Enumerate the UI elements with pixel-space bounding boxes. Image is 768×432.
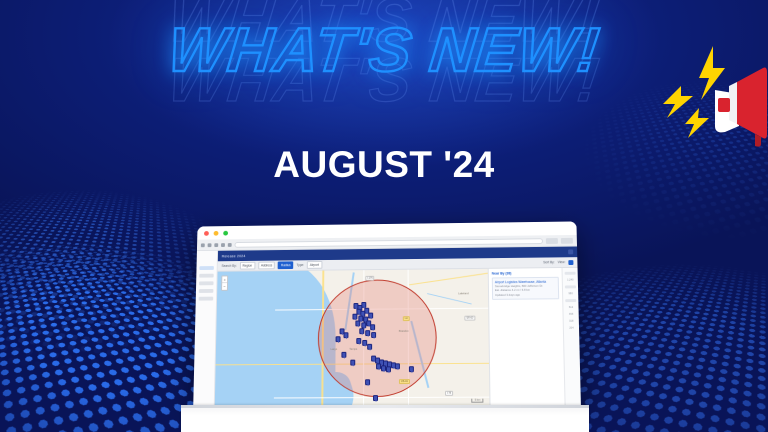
- map-road-shield: I-4: [403, 316, 410, 321]
- map-marker[interactable]: [386, 366, 391, 372]
- rail-value: 318: [569, 320, 573, 323]
- filter-chip-radius[interactable]: Radius: [278, 261, 294, 269]
- map-marker[interactable]: [371, 332, 376, 338]
- map-road-shield: I-275: [365, 276, 374, 281]
- sidebar-item-1[interactable]: [199, 266, 214, 270]
- address-bar[interactable]: [234, 238, 543, 248]
- map-marker[interactable]: [395, 363, 400, 369]
- map-scale-bar: 5 km: [472, 399, 484, 403]
- map-marker[interactable]: [367, 344, 372, 350]
- result-card[interactable]: Airport Logistics Warehouse, Atlanta Sto…: [492, 277, 559, 301]
- map-road-shield: SR-60: [464, 316, 475, 321]
- map-marker[interactable]: [373, 395, 378, 401]
- map-place-label: Tampa: [349, 348, 357, 351]
- view-toggle-icon[interactable]: [568, 260, 573, 265]
- map-marker[interactable]: [409, 366, 414, 372]
- sidebar-item-4[interactable]: [199, 289, 214, 293]
- forward-icon[interactable]: [208, 243, 212, 247]
- megaphone-body: [715, 68, 767, 147]
- rail-item[interactable]: [565, 272, 576, 275]
- laptop-mockup: Release 2024 Search By: Region Address R…: [183, 219, 587, 432]
- laptop-hinge: [181, 405, 589, 408]
- search-by-label: Search By:: [222, 264, 237, 268]
- toolbar-spacer: [325, 262, 540, 264]
- map-marker[interactable]: [356, 338, 361, 344]
- reload-icon[interactable]: [214, 243, 218, 247]
- sidebar-item-2[interactable]: [199, 274, 214, 278]
- map-place-label: Largo: [331, 348, 338, 351]
- type-select[interactable]: Airport: [307, 261, 322, 269]
- back-icon[interactable]: [201, 243, 205, 247]
- map-marker[interactable]: [341, 352, 346, 358]
- sidebar-item-3[interactable]: [199, 281, 214, 285]
- laptop-screen: Release 2024 Search By: Region Address R…: [193, 221, 581, 407]
- view-label: View:: [558, 260, 566, 264]
- map-marker[interactable]: [350, 360, 355, 366]
- map-marker[interactable]: [368, 313, 373, 319]
- megaphone-icon: [655, 38, 767, 150]
- rail-item[interactable]: [565, 285, 576, 288]
- traffic-light-close[interactable]: [204, 231, 209, 236]
- map-zoom-controls: + −: [221, 275, 228, 290]
- map-zoom-out-button[interactable]: −: [222, 283, 227, 290]
- map-marker[interactable]: [359, 328, 364, 334]
- map-road-shield: US-41: [399, 379, 410, 384]
- map-road-shield: I-75: [445, 391, 453, 396]
- rail-value: 1,240: [567, 279, 574, 282]
- app-right-rail: 1,240 980 612 455 318 204: [562, 268, 581, 407]
- app-close-icon[interactable]: [568, 249, 573, 254]
- sidebar-item-5[interactable]: [199, 297, 214, 301]
- map-place-label: Lakeland: [458, 292, 468, 295]
- map-place-label: Brandon: [399, 330, 409, 333]
- map-marker[interactable]: [365, 330, 370, 336]
- app-body: Tampa Largo Brandon Lakeland I-275 I-4 U…: [215, 268, 581, 408]
- rail-item[interactable]: [565, 299, 576, 302]
- map-marker[interactable]: [355, 320, 360, 326]
- application-window: Release 2024 Search By: Region Address R…: [193, 247, 581, 408]
- browser-actions: [546, 237, 573, 243]
- filter-chip-region[interactable]: Region: [239, 262, 255, 270]
- rail-value: 980: [568, 292, 572, 295]
- type-label: Type:: [296, 263, 304, 267]
- map-marker[interactable]: [365, 379, 370, 385]
- filter-chip-address[interactable]: Address: [258, 262, 275, 270]
- page-title: WHAT'S NEW!: [0, 22, 768, 79]
- laptop-base: [181, 405, 589, 432]
- sort-by-label[interactable]: Sort By:: [543, 260, 554, 264]
- traffic-light-minimize[interactable]: [214, 230, 219, 235]
- traffic-light-maximize[interactable]: [223, 230, 228, 235]
- map-canvas[interactable]: Tampa Largo Brandon Lakeland I-275 I-4 U…: [215, 269, 490, 408]
- app-main: Release 2024 Search By: Region Address R…: [215, 247, 581, 408]
- banner-subtitle: AUGUST '24: [0, 144, 768, 186]
- app-window-title: Release 2024: [222, 254, 246, 258]
- banner-title-group: WHAT'S NEW! WHAT'S NEW! WHAT'S NEW!: [0, 22, 768, 79]
- map-marker[interactable]: [352, 314, 357, 320]
- results-title: Near By (38): [492, 271, 559, 276]
- map-marker[interactable]: [370, 324, 375, 330]
- bookmark-icon[interactable]: [228, 243, 232, 247]
- rail-value: 612: [569, 306, 573, 309]
- rail-value: 204: [569, 327, 573, 330]
- rail-value: 455: [569, 313, 573, 316]
- results-panel: Near By (38) Airport Logistics Warehouse…: [488, 268, 565, 407]
- home-icon[interactable]: [221, 243, 225, 247]
- result-updated: Updated 3 days ago: [495, 293, 556, 297]
- profile-icon[interactable]: [561, 237, 573, 243]
- map-marker[interactable]: [343, 332, 348, 338]
- extensions-icon[interactable]: [546, 238, 558, 244]
- map-marker[interactable]: [336, 336, 341, 342]
